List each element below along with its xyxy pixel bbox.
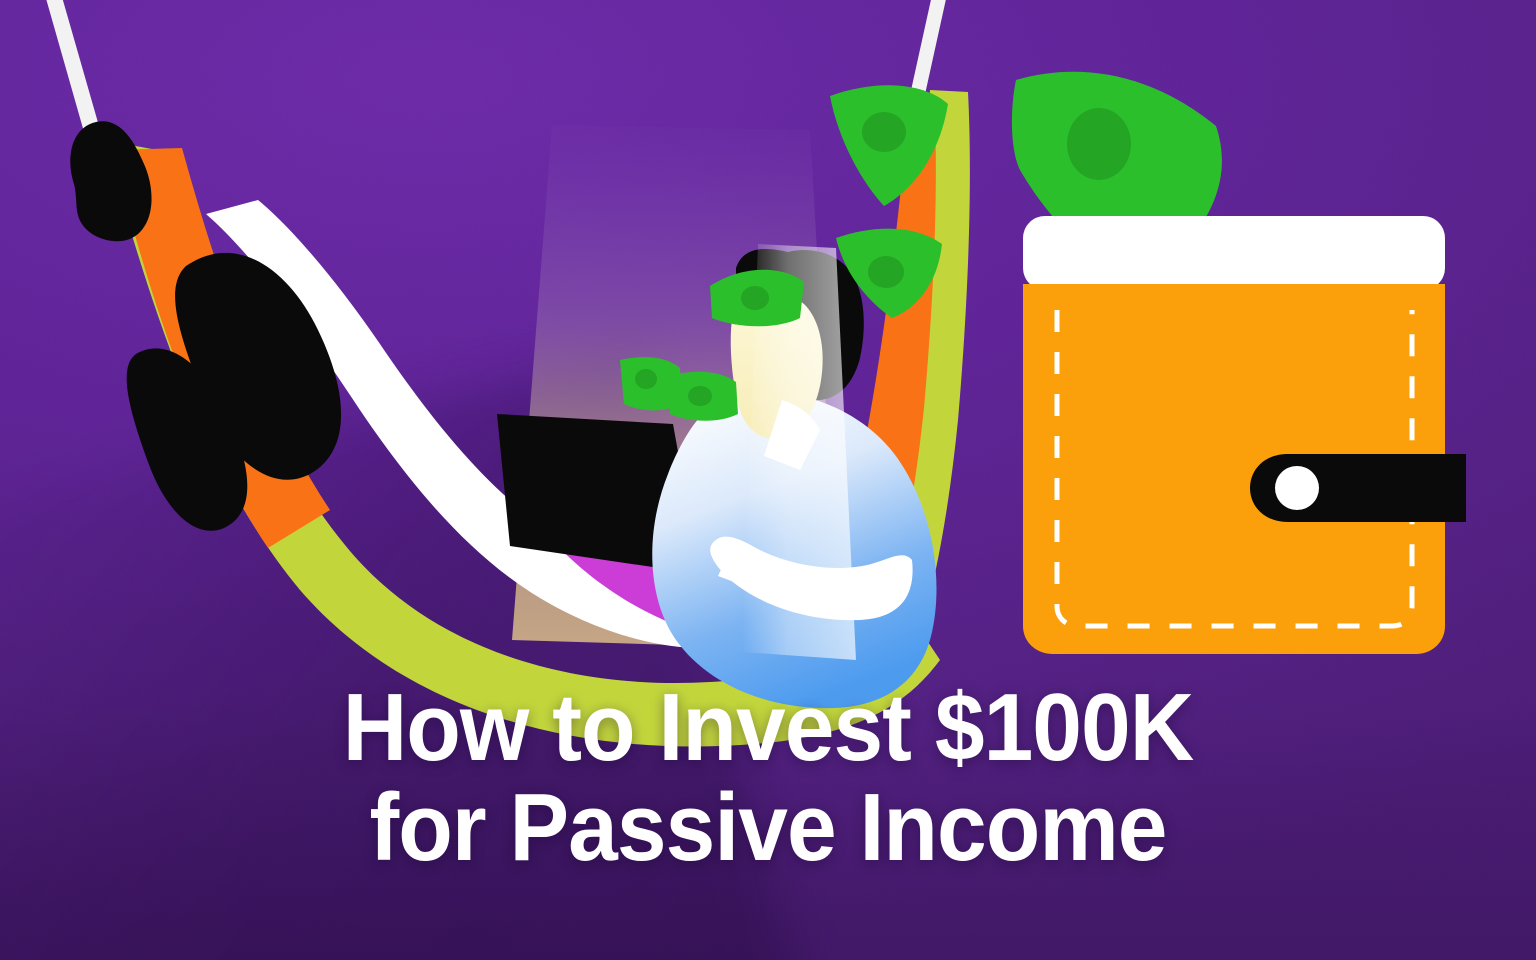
poster-title: How to Invest $100K for Passive Income bbox=[54, 678, 1482, 878]
bill-float-right bbox=[668, 372, 738, 421]
wallet-flap bbox=[1023, 216, 1445, 290]
wallet-clasp-dot bbox=[1275, 466, 1319, 510]
poster-title-line-2: for Passive Income bbox=[54, 778, 1482, 878]
left-hammock-knot bbox=[70, 121, 151, 241]
wallet bbox=[1012, 72, 1466, 654]
poster-title-line-1: How to Invest $100K bbox=[54, 678, 1482, 778]
poster-canvas: How to Invest $100K for Passive Income bbox=[0, 0, 1536, 960]
